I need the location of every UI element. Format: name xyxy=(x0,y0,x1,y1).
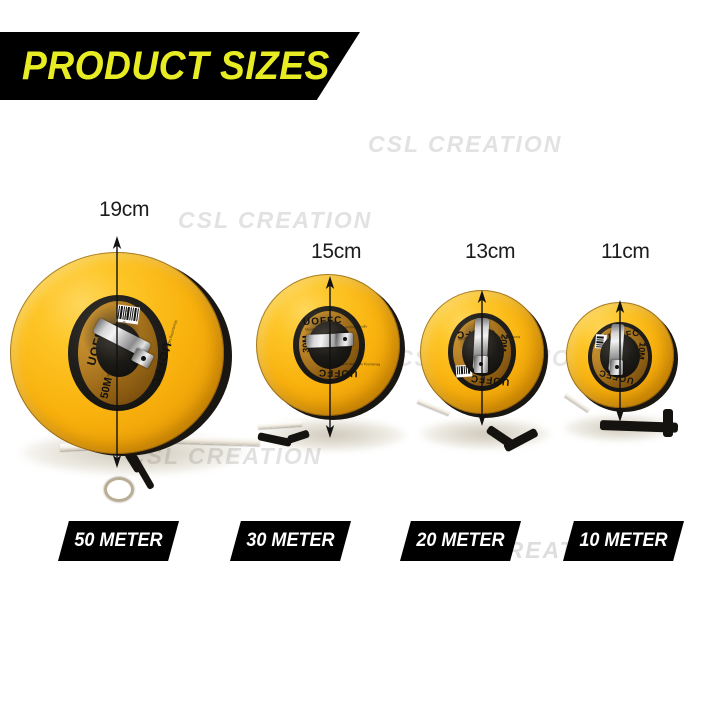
dimension-arrow xyxy=(611,300,629,422)
wrist-strap xyxy=(663,409,673,437)
badge-tape-10m[interactable]: 10 METER xyxy=(563,521,684,561)
product-sizes-infographic: PRODUCT SIZES CSL CREATION CSL CREATION … xyxy=(0,0,710,710)
dimension-label: 11cm xyxy=(601,240,650,264)
badge-label: 20 METER xyxy=(416,530,504,552)
badge-tape-30m[interactable]: 30 METER xyxy=(230,521,351,561)
product-tape-10m: UOFFC UOFFC 10M 11cm xyxy=(0,0,710,710)
badge-tape-50m[interactable]: 50 METER xyxy=(58,521,179,561)
badge-label: 50 METER xyxy=(74,530,162,552)
badge-label: 10 METER xyxy=(579,530,667,552)
badge-tape-20m[interactable]: 20 METER xyxy=(400,521,521,561)
badge-label: 30 METER xyxy=(246,530,334,552)
